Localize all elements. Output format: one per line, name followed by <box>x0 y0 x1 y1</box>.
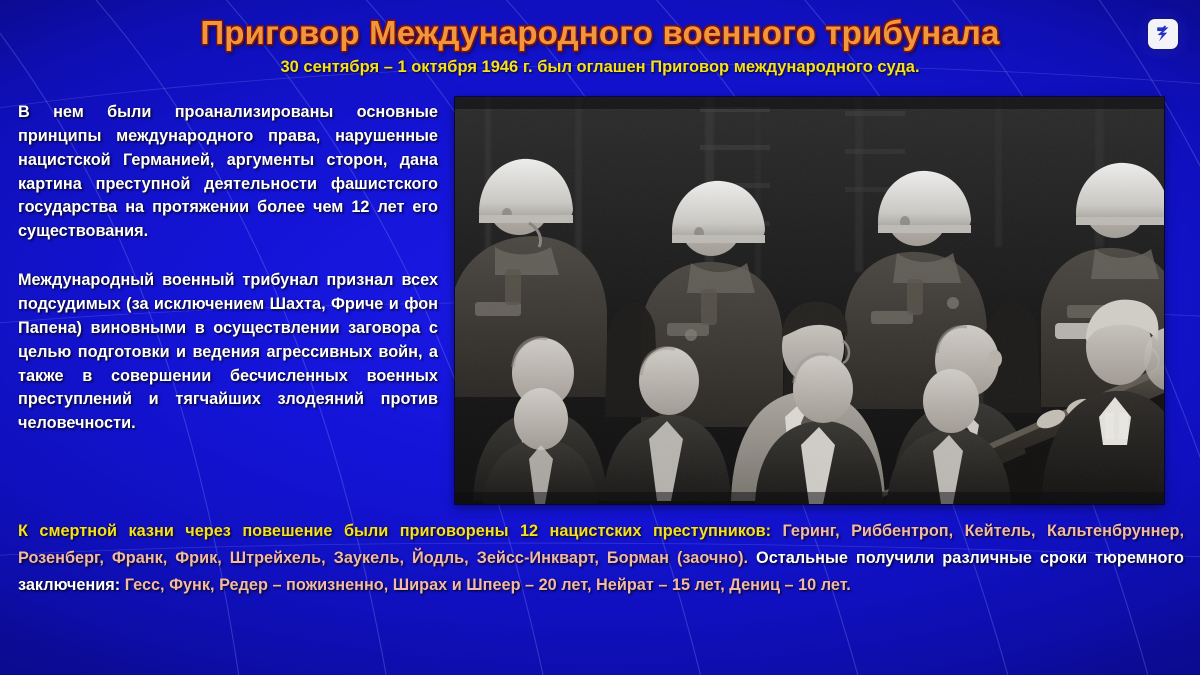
z-lightning-logo[interactable] <box>1148 19 1178 49</box>
slide-header: Приговор Международного военного трибуна… <box>0 0 1200 92</box>
imprisoned-names-list: Гесс, Функ, Редер – пожизненно, Ширах и … <box>125 576 851 594</box>
z-lightning-icon <box>1153 24 1173 44</box>
death-sentence-lead: К смертной казни через повешение были пр… <box>18 522 783 540</box>
bottom-text-block: К смертной казни через повешение были пр… <box>18 518 1184 600</box>
slide-subtitle: 30 сентября – 1 октября 1946 г. был огла… <box>0 58 1200 77</box>
page-title: Приговор Международного военного трибуна… <box>0 0 1200 52</box>
sentences-paragraph: К смертной казни через повешение были пр… <box>18 518 1184 600</box>
paragraph-verdict: Международный военный трибунал признал в… <box>18 269 438 436</box>
paragraph-principles: В нем были проанализированы основные при… <box>18 101 438 244</box>
nuremberg-trials-defendants-dock-photo <box>455 97 1164 504</box>
presentation-slide: Приговор Международного военного трибуна… <box>0 0 1200 675</box>
left-text-column: В нем были проанализированы основные при… <box>18 101 438 436</box>
